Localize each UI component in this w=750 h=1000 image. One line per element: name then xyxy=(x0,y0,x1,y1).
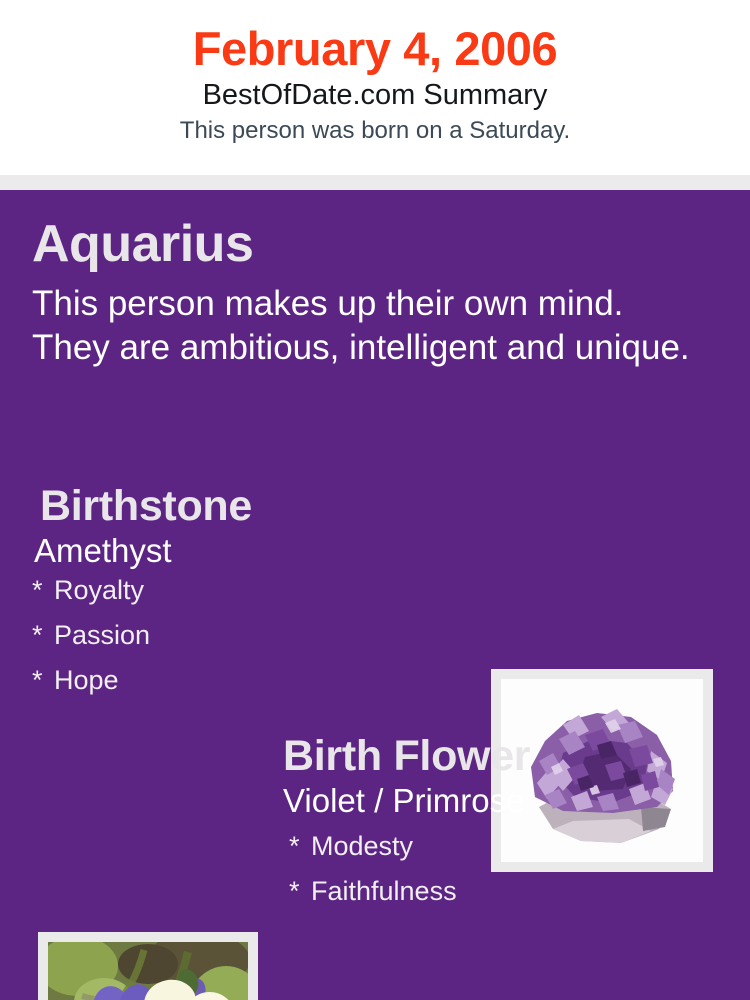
birthstone-section: Birthstone Amethyst *Royalty *Passion *H… xyxy=(32,485,462,712)
violet-and-primrose-flowers-icon xyxy=(48,942,248,1000)
bullet-star-icon: * xyxy=(32,577,54,604)
header-divider xyxy=(0,175,750,190)
birthstone-trait-list: *Royalty *Passion *Hope xyxy=(32,569,462,712)
born-day-text: This person was born on a Saturday. xyxy=(0,112,750,144)
header: February 4, 2006 BestOfDate.com Summary … xyxy=(0,0,750,175)
zodiac-sign-name: Aquarius xyxy=(32,218,692,270)
birth-flower-trait-label: Modesty xyxy=(311,831,413,861)
site-summary-label: BestOfDate.com Summary xyxy=(0,73,750,112)
zodiac-section: Aquarius This person makes up their own … xyxy=(32,218,692,370)
page-title: February 4, 2006 xyxy=(0,0,750,73)
bullet-star-icon: * xyxy=(289,878,311,905)
zodiac-description: This person makes up their own mind. The… xyxy=(32,270,692,370)
birth-flower-trait-list: *Modesty *Faithfulness xyxy=(283,819,733,923)
birth-flower-photo xyxy=(48,942,248,1000)
birth-flower-photo-frame xyxy=(38,932,258,1000)
bullet-star-icon: * xyxy=(32,667,54,694)
birth-flower-section: Birth Flower Violet / Primrose *Modesty … xyxy=(283,735,733,923)
list-item: *Modesty xyxy=(283,833,733,878)
birthstone-heading: Birthstone xyxy=(32,485,462,528)
bullet-star-icon: * xyxy=(289,833,311,860)
birthstone-trait-label: Royalty xyxy=(54,575,144,605)
list-item: *Passion xyxy=(32,622,462,667)
summary-card: February 4, 2006 BestOfDate.com Summary … xyxy=(0,0,750,1000)
birthstone-trait-label: Passion xyxy=(54,620,150,650)
birth-flower-trait-label: Faithfulness xyxy=(311,876,457,906)
birth-flower-name: Violet / Primrose xyxy=(283,778,733,819)
bullet-star-icon: * xyxy=(32,622,54,649)
list-item: *Royalty xyxy=(32,577,462,622)
birthstone-name: Amethyst xyxy=(32,528,462,569)
details-panel: Aquarius This person makes up their own … xyxy=(0,190,750,1000)
list-item: *Hope xyxy=(32,667,462,712)
list-item: *Faithfulness xyxy=(283,878,733,923)
birth-flower-heading: Birth Flower xyxy=(283,735,733,778)
birthstone-trait-label: Hope xyxy=(54,665,119,695)
